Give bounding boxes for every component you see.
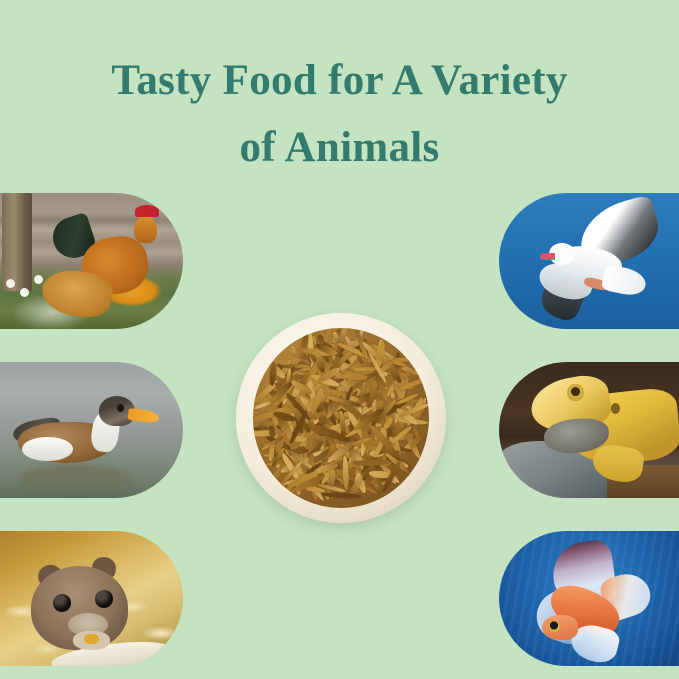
fence-post-shape — [2, 193, 32, 291]
product-poster: Tasty Food for A Variety of Animals Roos… — [0, 0, 679, 679]
gull-tail-shape — [601, 264, 649, 298]
title-line-2: of Animals — [0, 115, 679, 182]
flower-shape — [20, 288, 29, 297]
dragon-nostril-shape — [611, 403, 620, 414]
seed-shape — [84, 634, 99, 645]
duck-bill-shape — [127, 407, 160, 423]
flower-shape — [6, 279, 15, 288]
rooster-head-shape — [134, 216, 158, 243]
mealworm-pile — [253, 328, 429, 509]
seagull-photo — [499, 193, 679, 329]
duck-photo — [0, 362, 183, 498]
tile-bearded-dragon: Bearded dragon resting on a rock — [499, 362, 679, 498]
dragon-eye-shape — [567, 384, 583, 402]
hamster-photo — [0, 531, 183, 666]
title-line-1: Tasty Food for A Variety — [0, 48, 679, 115]
chicken-photo — [0, 193, 183, 329]
betta-head-shape — [542, 615, 578, 641]
water-reflection-shape — [18, 465, 131, 492]
page-title: Tasty Food for A Variety of Animals — [0, 48, 679, 181]
betta-fish-photo — [499, 531, 679, 666]
tile-hamster: Hamster eating from a dish — [0, 531, 183, 666]
tile-seagull: Seagulls flying against a blue sky — [499, 193, 679, 329]
tile-chicken: Rooster and hen foraging by a wooden fen… — [0, 193, 183, 329]
mealworm-bowl: Bowl of dried mealworms — [236, 313, 446, 523]
tile-duck: Duck swimming on a pond — [0, 362, 183, 498]
tile-betta-fish: Orange betta fish swimming — [499, 531, 679, 666]
bowl-caption: Bowl of dried mealworms — [236, 313, 237, 314]
bearded-dragon-photo — [499, 362, 679, 498]
rooster-comb-shape — [135, 205, 159, 217]
mealworm-shape — [283, 364, 308, 369]
flower-shape — [34, 275, 43, 284]
gull-beak-shape — [540, 253, 554, 260]
